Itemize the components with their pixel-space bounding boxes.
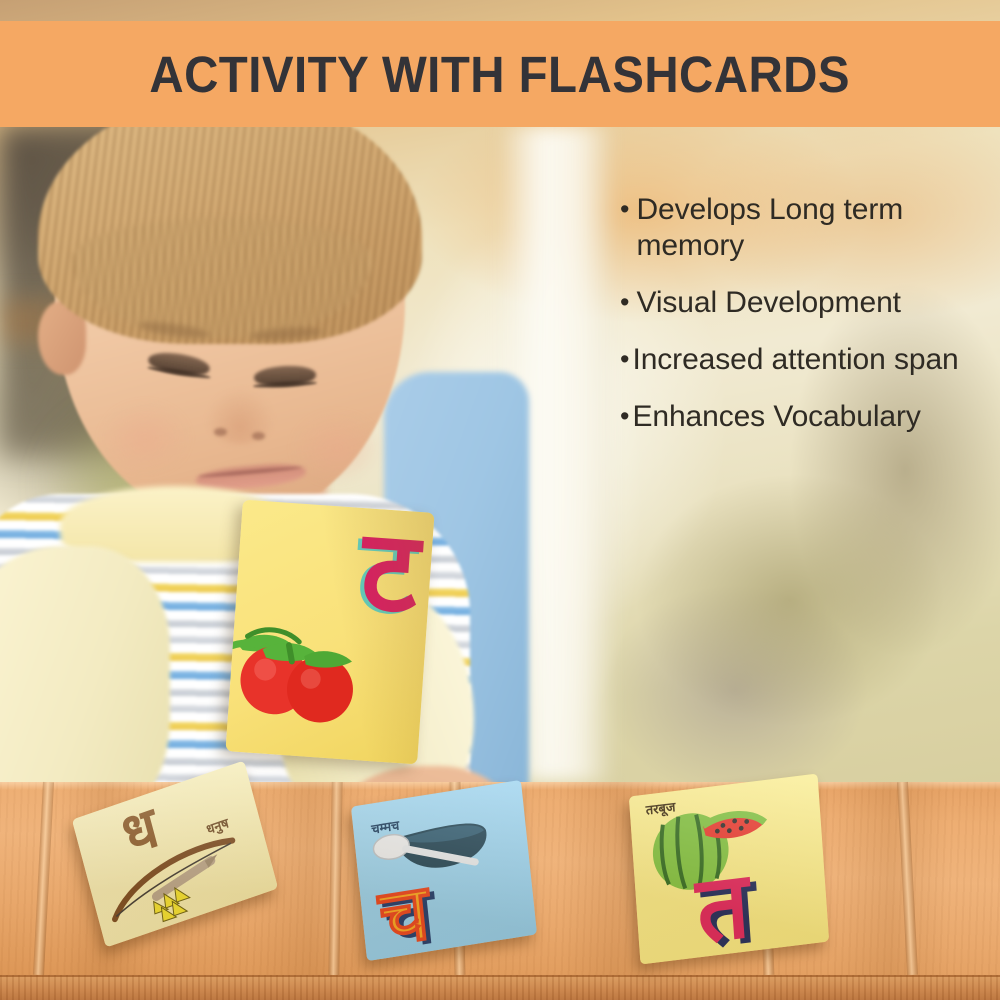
held-flashcard[interactable]: ट: [225, 500, 434, 765]
flashcard-ta[interactable]: तरबूज त त: [629, 774, 829, 965]
benefit-label: Visual Development: [636, 285, 900, 321]
flashcard-cha-gloss: [351, 780, 537, 961]
bullet-point-icon: •: [620, 399, 629, 433]
benefit-label: Enhances Vocabulary: [632, 399, 920, 435]
flashcard-ta-gloss: [629, 774, 829, 965]
table-plank-seam: [33, 782, 54, 975]
bullet-point-icon: •: [620, 192, 629, 226]
benefit-label: Develops Long term memory: [636, 192, 992, 264]
benefit-item: • Increased attention span: [620, 342, 992, 378]
page-title: ACTIVITY WITH FLASHCARDS: [150, 45, 851, 104]
header-banner: ACTIVITY WITH FLASHCARDS: [0, 21, 1000, 127]
poster-root: ट ध धनुष: [0, 0, 1000, 1000]
held-flashcard-shading: [225, 500, 434, 765]
bullet-point-icon: •: [620, 285, 629, 319]
child-nostril-left: [214, 428, 227, 436]
flashcard-cha[interactable]: चम्मच च च: [351, 780, 537, 961]
child-nostril-right: [252, 432, 265, 440]
child-cheek-left: [100, 402, 190, 474]
table-front-edge: [0, 975, 1000, 1000]
benefit-label: Increased attention span: [632, 342, 958, 378]
benefits-list: • Develops Long term memory • Visual Dev…: [620, 192, 992, 456]
benefit-item: • Enhances Vocabulary: [620, 399, 992, 435]
benefit-item: • Visual Development: [620, 285, 992, 321]
bullet-point-icon: •: [620, 342, 629, 376]
benefit-item: • Develops Long term memory: [620, 192, 992, 264]
